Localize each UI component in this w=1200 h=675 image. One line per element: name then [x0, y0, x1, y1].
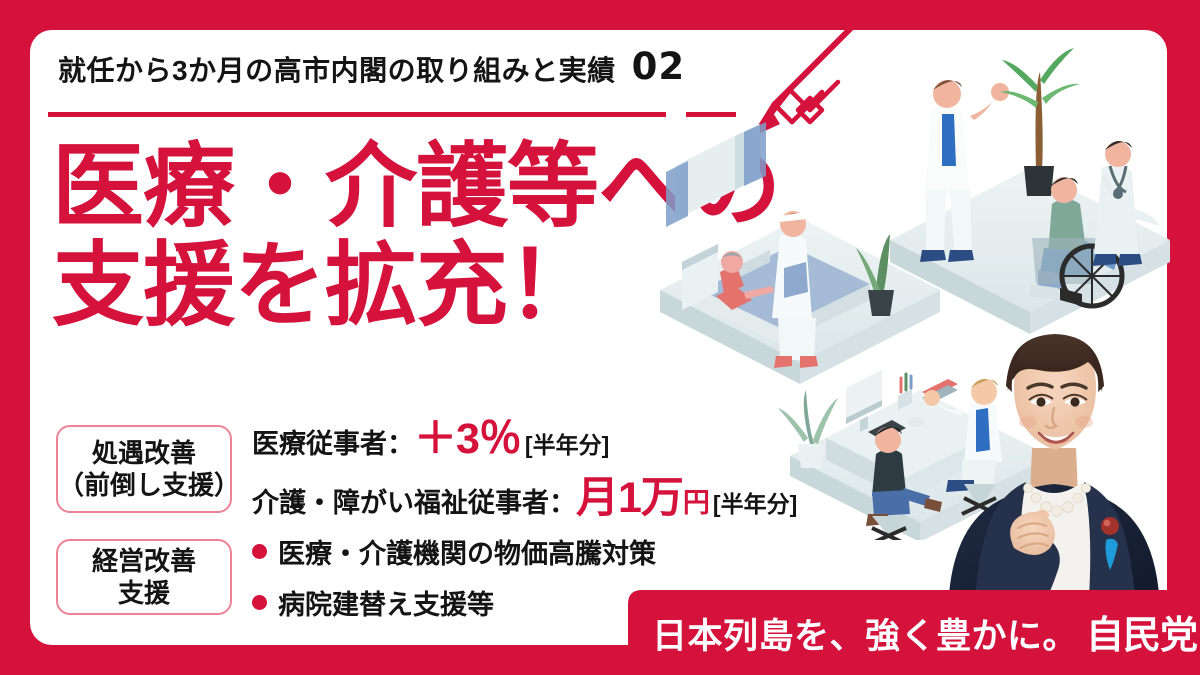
row-label: 介護・障がい福祉従事者：	[252, 481, 576, 520]
list-item: 医療・介護機関の物価高騰対策	[252, 532, 656, 571]
row-note: [半年分]	[525, 426, 609, 460]
party-logo: 自民党	[1086, 604, 1197, 659]
bullet-text: 医療・介護機関の物価高騰対策	[278, 532, 656, 571]
tag-line-1: 経営改善	[58, 545, 230, 578]
bullet-list: 医療・介護機関の物価高騰対策 病院建替え支援等	[252, 532, 656, 622]
section-tag-management: 経営改善 支援	[56, 539, 232, 615]
bullet-dot-icon	[252, 595, 267, 610]
row-value: ＋3％	[414, 418, 521, 461]
potted-plant-b	[1000, 48, 1080, 196]
section-tag-treatment: 処遇改善 （前倒し支援）	[56, 425, 232, 513]
slogan-text: 日本列島を、強く豊かに。 自民党	[652, 604, 1197, 659]
bullet-text: 病院建替え支援等	[278, 583, 494, 622]
section-management-support: 経営改善 支援 医療・介護機関の物価高騰対策 病院建替え支援等	[56, 532, 656, 622]
list-item: 病院建替え支援等	[252, 583, 656, 622]
tag-line-2: （前倒し支援）	[58, 469, 230, 502]
tag-line-1: 処遇改善	[58, 437, 230, 470]
takaichi-sanae-portrait	[940, 330, 1170, 612]
header-rule-long	[48, 112, 666, 117]
slogan: 日本列島を、強く豊かに。	[652, 608, 1078, 659]
header: 就任から3か月の高市内閣の取り組みと実績 02	[58, 48, 685, 85]
page-title: 就任から3か月の高市内閣の取り組みと実績	[58, 57, 616, 85]
poster-root: 就任から3か月の高市内閣の取り組みと実績 02 医療・介護等への 支援を拡充！ …	[0, 0, 1200, 675]
tag-line-2: 支援	[58, 577, 230, 610]
row-label: 医療従事者：	[252, 422, 414, 461]
bullet-dot-icon	[252, 544, 267, 559]
